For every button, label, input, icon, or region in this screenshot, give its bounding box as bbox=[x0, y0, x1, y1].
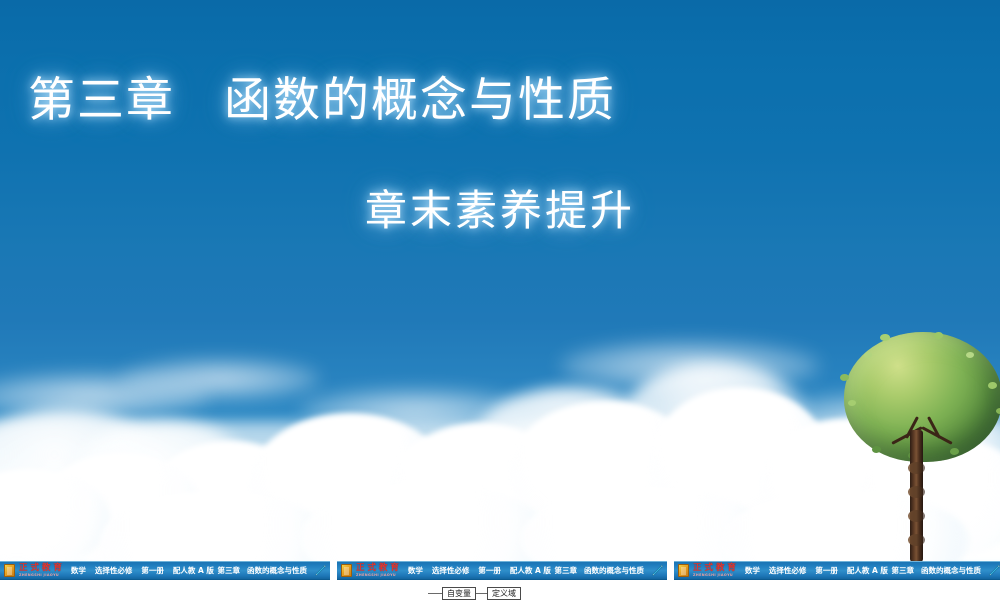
connector-line bbox=[476, 593, 487, 594]
publisher-logo-pinyin: ZHENGSHI JIAOYU bbox=[356, 573, 399, 577]
page-title: 第三章 函数的概念与性质 bbox=[28, 70, 616, 132]
publisher-logo-text: 正 式 教 育 bbox=[356, 563, 399, 573]
footer-crumb-subject: 数学 bbox=[408, 566, 423, 575]
connector-line bbox=[428, 593, 442, 594]
footer-chapter-info: 第三章 函数的概念与性质 bbox=[218, 564, 328, 577]
footer-crumb-volume: 第一册 bbox=[478, 566, 501, 575]
publisher-logo: 正 式 教 育 ZHENGSHI JIAOYU bbox=[19, 564, 62, 577]
book-badge-icon bbox=[4, 564, 15, 577]
trunk-twist bbox=[908, 486, 925, 498]
footer-chapter-number: 第三章 bbox=[892, 566, 915, 575]
footer-crumb-subject: 数学 bbox=[71, 566, 86, 575]
footer-gap-1 bbox=[330, 561, 337, 600]
peek-box-variable: 自变量 bbox=[442, 587, 476, 600]
trunk-twist bbox=[908, 510, 925, 522]
footer-chapter-info: 第三章 函数的概念与性质 bbox=[555, 564, 665, 577]
cloud-wisp bbox=[120, 359, 320, 399]
footer-chapter-title: 函数的概念与性质 bbox=[921, 566, 981, 575]
footer-breadcrumbs: 数学 选择性必修 第一册 配人教 A 版 bbox=[745, 566, 892, 575]
footer-crumb-volume: 第一册 bbox=[815, 566, 838, 575]
page-subtitle: 章末素养提升 bbox=[0, 183, 1000, 239]
footer-chapter-info: 第三章 函数的概念与性质 bbox=[892, 564, 1000, 577]
footer-crumb-edition: 配人教 A 版 bbox=[510, 566, 551, 575]
pencil-icon[interactable] bbox=[651, 564, 664, 577]
publisher-logo: 正 式 教 育 ZHENGSHI JIAOYU bbox=[693, 564, 736, 577]
publisher-logo-text: 正 式 教 育 bbox=[693, 563, 736, 573]
slide-canvas: 第三章 函数的概念与性质 章末素养提升 自变量 定义域 正 式 教 育 ZHEN… bbox=[0, 0, 1000, 600]
peek-box-domain: 定义域 bbox=[487, 587, 521, 600]
footer-bar-1: 正 式 教 育 ZHENGSHI JIAOYU 数学 选择性必修 第一册 配人教… bbox=[0, 561, 330, 580]
publisher-logo-text: 正 式 教 育 bbox=[19, 563, 62, 573]
footer-bar-3: 正 式 教 育 ZHENGSHI JIAOYU 数学 选择性必修 第一册 配人教… bbox=[674, 561, 1000, 580]
footer-bar-2: 正 式 教 育 ZHENGSHI JIAOYU 数学 选择性必修 第一册 配人教… bbox=[337, 561, 667, 580]
footer-crumb-subject: 数学 bbox=[745, 566, 760, 575]
footer-crumb-course: 选择性必修 bbox=[95, 566, 133, 575]
pencil-icon[interactable] bbox=[314, 564, 327, 577]
footer-chapter-title: 函数的概念与性质 bbox=[584, 566, 644, 575]
sky-background: 第三章 函数的概念与性质 章末素养提升 bbox=[0, 0, 1000, 561]
footer-crumb-edition: 配人教 A 版 bbox=[173, 566, 214, 575]
footer-crumb-volume: 第一册 bbox=[141, 566, 164, 575]
footer-chapter-title: 函数的概念与性质 bbox=[247, 566, 307, 575]
publisher-logo-pinyin: ZHENGSHI JIAOYU bbox=[19, 573, 62, 577]
book-badge-icon bbox=[678, 564, 689, 577]
tree-illustration bbox=[838, 330, 1000, 561]
pencil-icon[interactable] bbox=[988, 564, 1000, 577]
footer-breadcrumbs: 数学 选择性必修 第一册 配人教 A 版 bbox=[408, 566, 555, 575]
leaf-speck bbox=[996, 408, 1000, 414]
publisher-logo: 正 式 教 育 ZHENGSHI JIAOYU bbox=[356, 564, 399, 577]
footer-gap-2 bbox=[667, 561, 674, 600]
footer-crumb-edition: 配人教 A 版 bbox=[847, 566, 888, 575]
footer-breadcrumbs: 数学 选择性必修 第一册 配人教 A 版 bbox=[71, 566, 218, 575]
footer-crumb-course: 选择性必修 bbox=[769, 566, 807, 575]
trunk-twist bbox=[908, 462, 925, 474]
footer-chapter-number: 第三章 bbox=[555, 566, 578, 575]
publisher-logo-pinyin: ZHENGSHI JIAOYU bbox=[693, 573, 736, 577]
trunk-twist bbox=[908, 534, 925, 546]
footer-chapter-number: 第三章 bbox=[218, 566, 241, 575]
next-slide-peek: 自变量 定义域 bbox=[330, 581, 670, 600]
footer-crumb-course: 选择性必修 bbox=[432, 566, 470, 575]
book-badge-icon bbox=[341, 564, 352, 577]
